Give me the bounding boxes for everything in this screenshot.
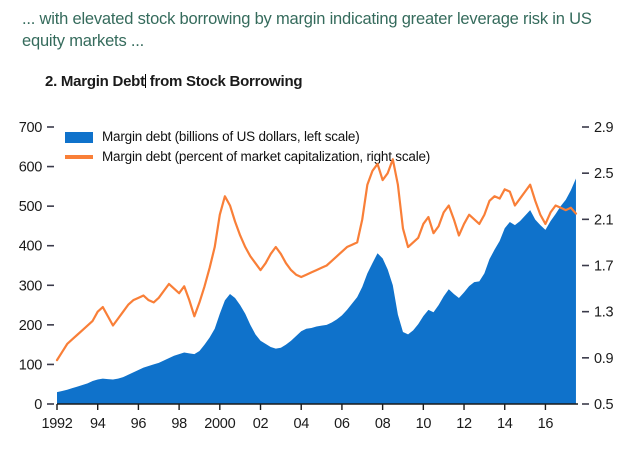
y-axis-left-tick-label: 700: [19, 120, 43, 136]
x-axis-tick-label: 98: [171, 416, 187, 432]
x-axis-tick-label: 10: [416, 416, 432, 432]
x-axis-tick-label: 06: [334, 416, 350, 432]
y-axis-right-tick-label: 2.5: [594, 166, 613, 182]
x-axis-tick-label: 96: [131, 416, 147, 432]
x-axis-tick-label: 12: [456, 416, 472, 432]
x-axis-tick-label: 14: [497, 416, 513, 432]
y-axis-left-tick-label: 200: [19, 318, 43, 334]
x-axis-tick-label: 16: [538, 416, 554, 432]
y-axis-right-tick-label: 2.1: [594, 212, 613, 228]
y-axis-right-tick-label: 1.3: [594, 305, 613, 321]
y-axis-right-tick-label: 0.5: [594, 397, 613, 413]
y-axis-left-tick-label: 100: [19, 357, 43, 373]
x-axis-tick-label: 08: [375, 416, 391, 432]
x-axis-tick-label: 02: [253, 416, 269, 432]
x-axis-tick-label: 2000: [204, 416, 235, 432]
y-axis-right-tick-label: 1.7: [594, 259, 613, 275]
x-axis-tick-label: 1992: [41, 416, 72, 432]
chart-svg: 1992949698200002040608101214160100200300…: [0, 0, 640, 449]
series-margin-debt-billions-area: [57, 178, 576, 404]
y-axis-left-tick-label: 400: [19, 239, 43, 255]
y-axis-right-tick-label: 2.9: [594, 120, 613, 136]
figure-panel: ... with elevated stock borrowing by mar…: [0, 0, 640, 449]
y-axis-left-tick-label: 500: [19, 199, 43, 215]
x-axis-tick-label: 04: [293, 416, 309, 432]
y-axis-left-tick-label: 0: [34, 397, 42, 413]
y-axis-right-tick-label: 0.9: [594, 351, 613, 367]
y-axis-left-tick-label: 300: [19, 278, 43, 294]
plot-area: 1992949698200002040608101214160100200300…: [0, 0, 640, 449]
y-axis-left-tick-label: 600: [19, 160, 43, 176]
x-axis-tick-label: 94: [90, 416, 106, 432]
